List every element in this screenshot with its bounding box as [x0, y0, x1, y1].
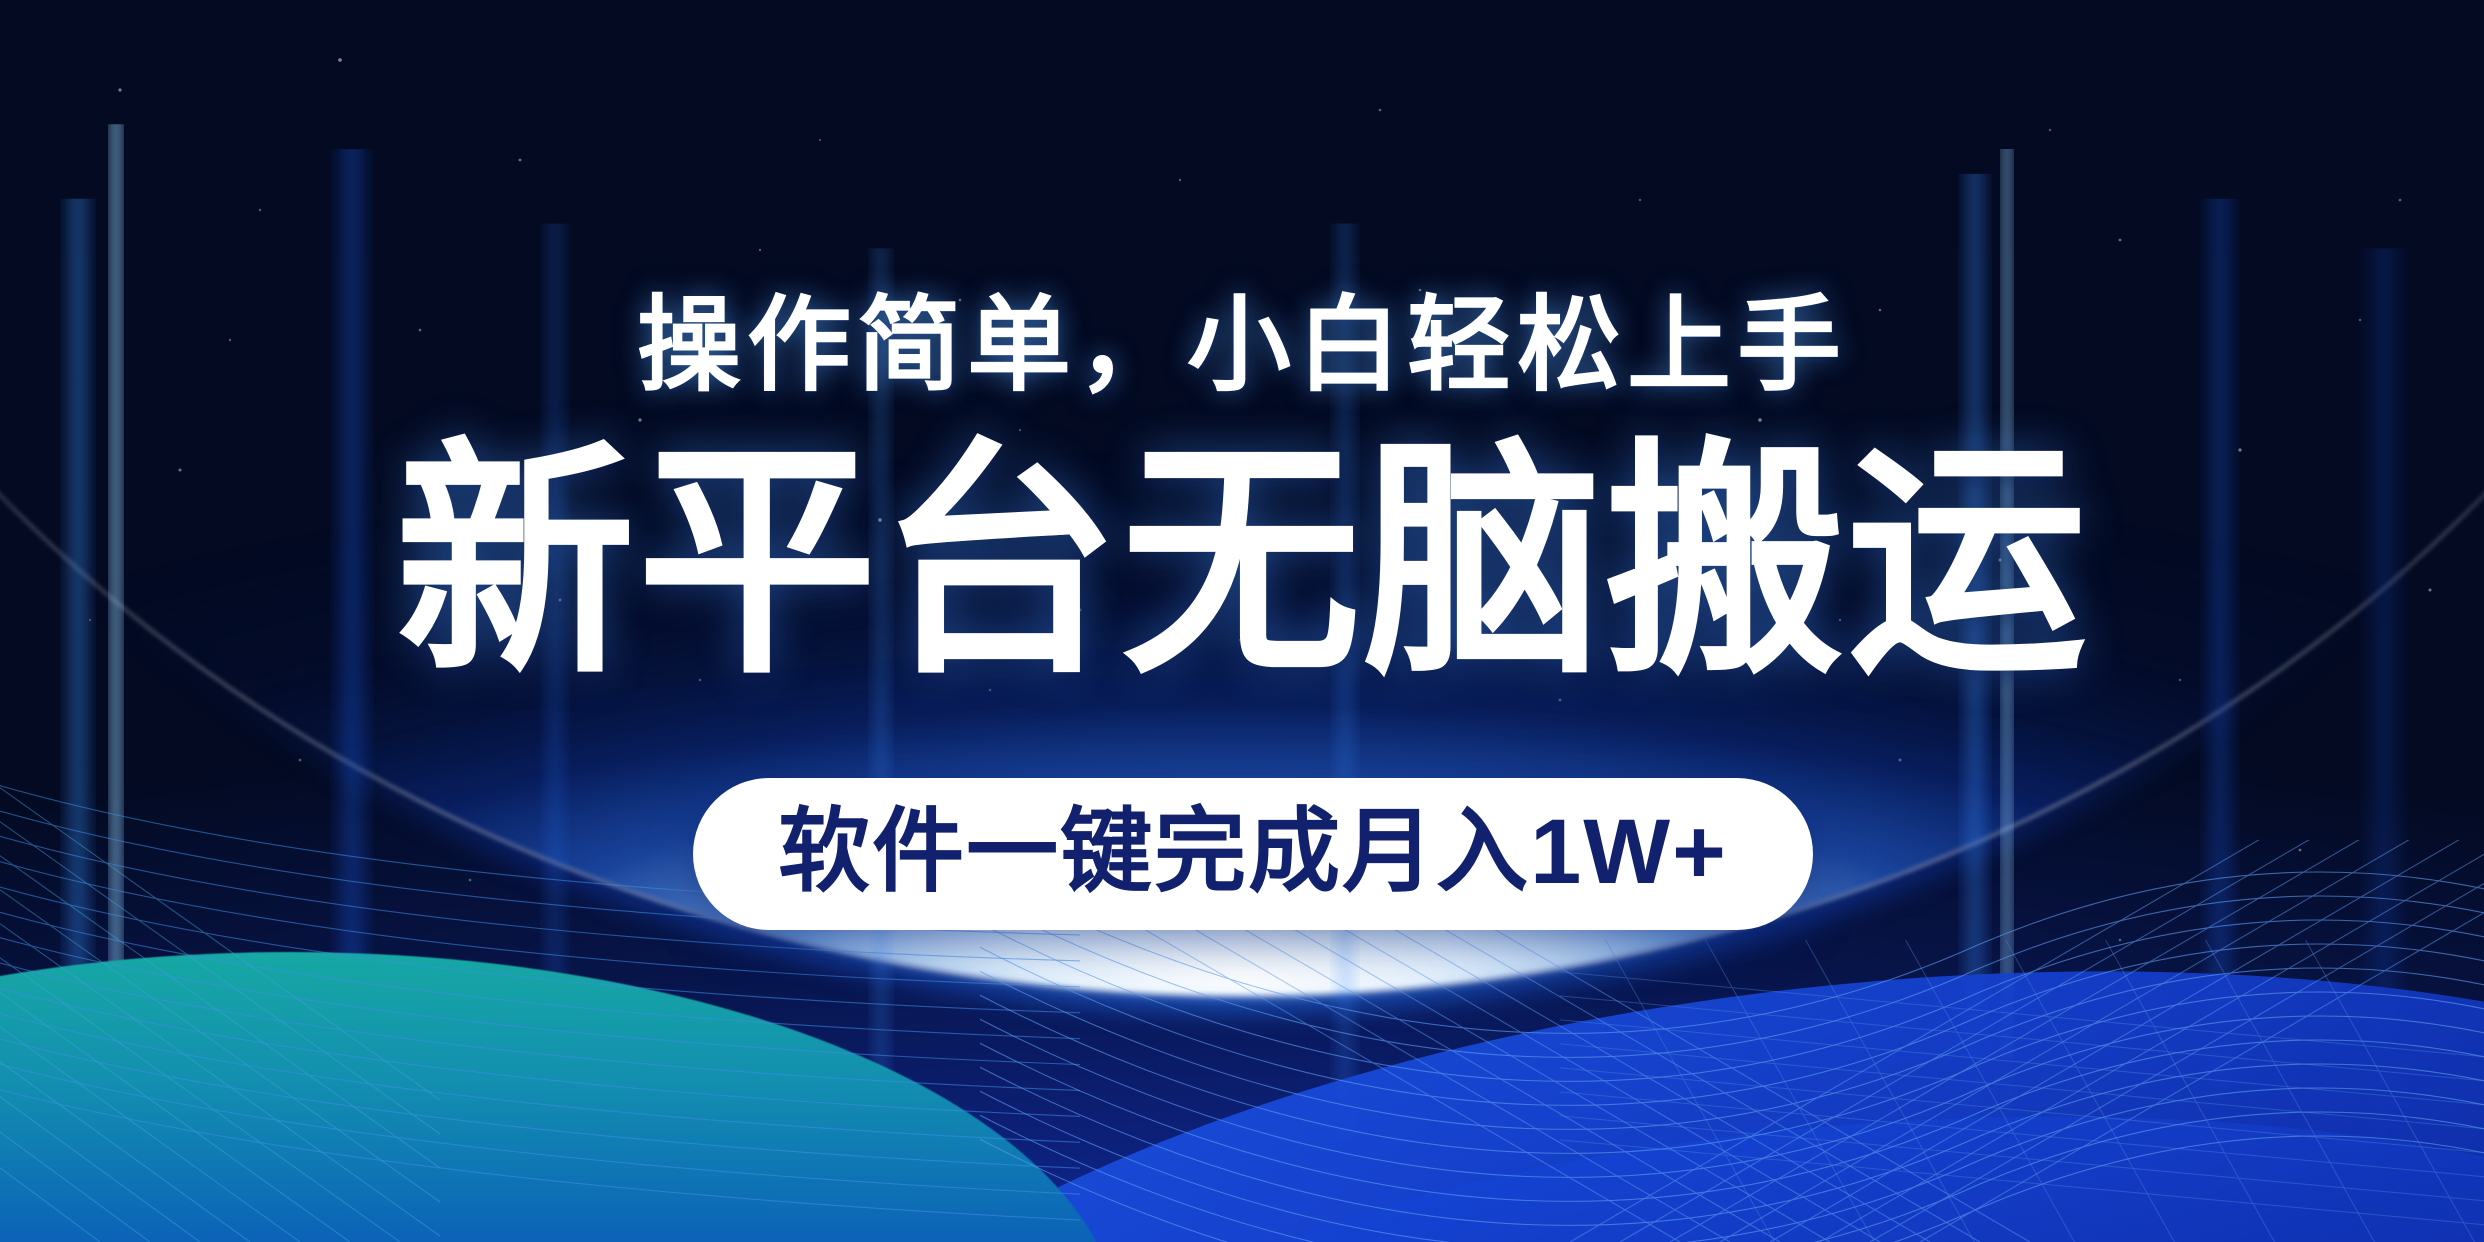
banner-headline: 新平台无脑搬运 [50, 430, 2435, 695]
banner-subtitle: 操作简单，小白轻松上手 [0, 294, 2484, 398]
banner-content: 操作简单，小白轻松上手 新平台无脑搬运 软件一键完成月入1W+ [0, 0, 2484, 1242]
highlight-pill: 软件一键完成月入1W+ [693, 778, 1813, 930]
promo-banner: 操作简单，小白轻松上手 新平台无脑搬运 软件一键完成月入1W+ [0, 0, 2484, 1242]
highlight-pill-text: 软件一键完成月入1W+ [778, 806, 1728, 898]
